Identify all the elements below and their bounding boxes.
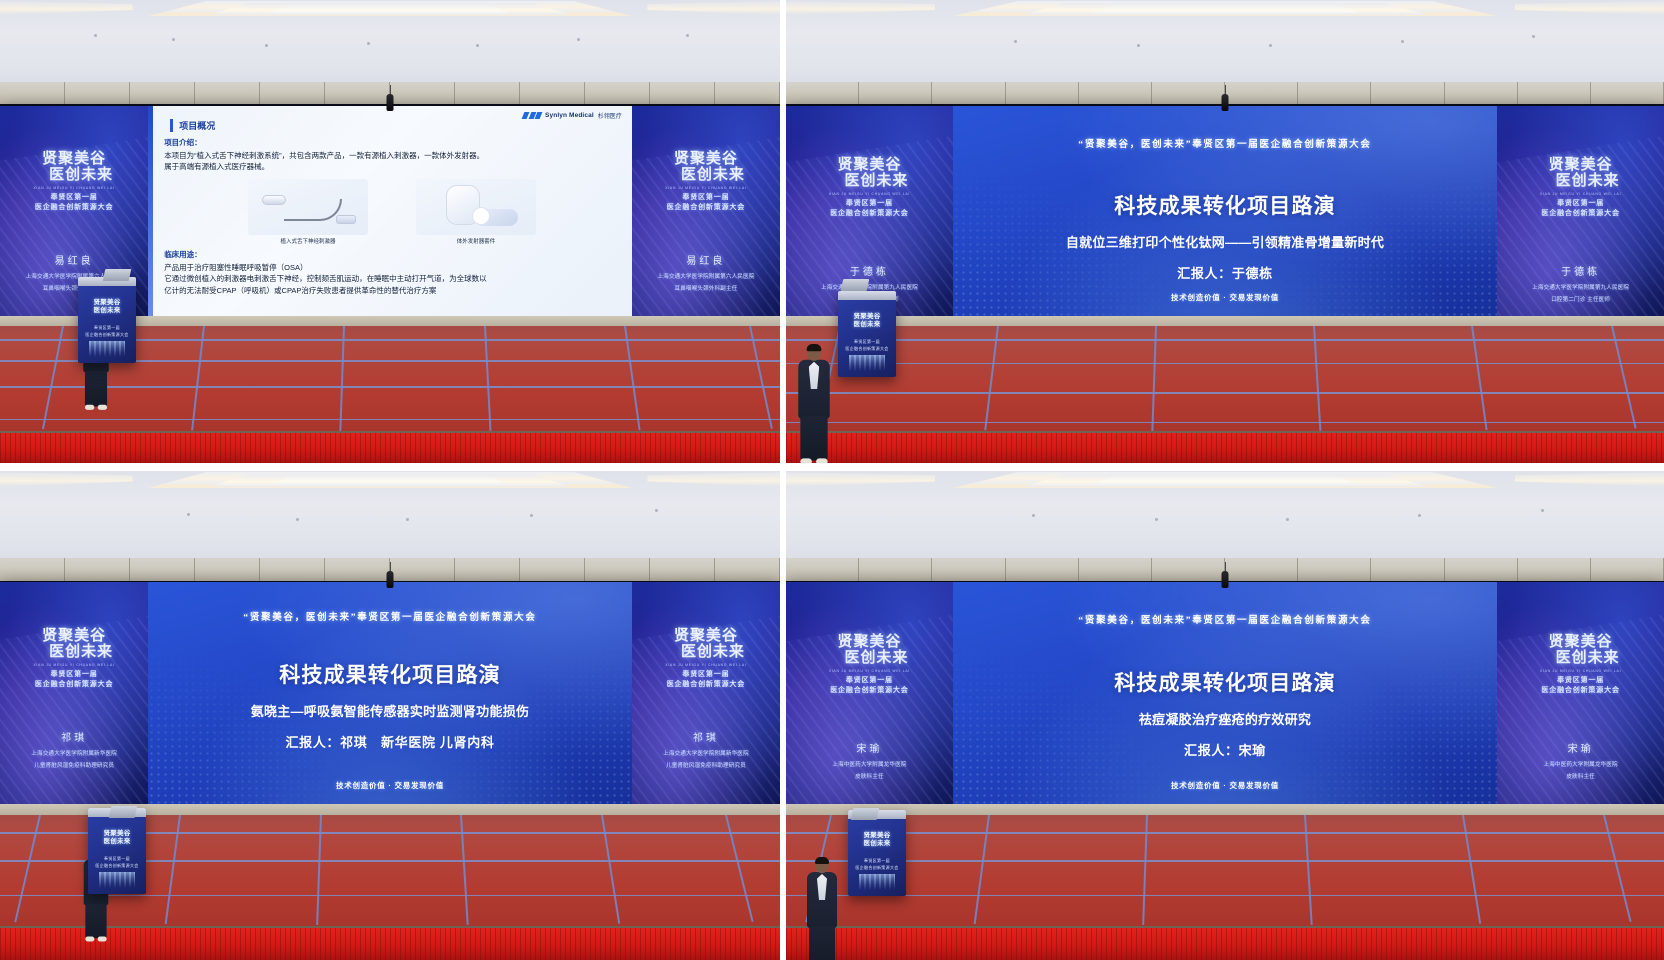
ceiling <box>0 471 780 571</box>
podium-subtitle: 奉贤区第一届 医企融合创新策源大会 <box>88 856 146 870</box>
screen-session-title: 科技成果转化项目路演 <box>279 659 501 689</box>
led-wall: 贤聚美谷 医创未来 XIAN JU MEIGU YI CHUANG WEI LA… <box>786 582 1664 804</box>
podium-logo: 贤聚美谷 医创未来 <box>78 299 136 315</box>
hanging-microphone-icon <box>387 94 394 111</box>
slide-section-2-line-1: 产品用于治疗阻塞性睡眠呼吸暂停（OSA） <box>164 262 620 274</box>
ceiling-cove-inner <box>269 476 511 485</box>
podium-skyline-graphic <box>89 341 125 357</box>
led-center-screen: “贤聚美谷，医创未来”奉贤区第一届医企融合创新策源大会 科技成果转化项目路演 祛… <box>953 582 1497 804</box>
figure-transmitter: 体外发射器套件 <box>416 179 536 245</box>
stage-skirt <box>786 431 1664 463</box>
banner-speaker-name: 易红良 <box>55 252 94 267</box>
banner-speaker-affiliation: 上海交通大学医学院附属第六人民医院 耳鼻咽喉头颈外科副主任 <box>657 272 754 295</box>
podium-subtitle: 奉贤区第一届 医企融合创新策源大会 <box>848 858 906 872</box>
panel-top-right: 贤聚美谷 医创未来 XIAN JU MEIGU YI CHUANG WEI LA… <box>786 0 1664 463</box>
banner-pinyin: XIAN JU MEIGU YI CHUANG WEI LAI <box>829 192 910 196</box>
screen-session-title: 科技成果转化项目路演 <box>1114 190 1336 220</box>
banner-speaker-affiliation: 上海中医药大学附属龙华医院 皮肤科主任 <box>832 760 906 783</box>
stage-floor <box>786 316 1664 463</box>
photo-grid: 贤聚美谷 医创未来 XIAN JU MEIGU YI CHUANG WEI LA… <box>0 0 1664 960</box>
podium: 贤聚美谷 医创未来 奉贤区第一届 医企融合创新策源大会 <box>848 810 906 896</box>
banner-subtitle: 奉贤区第一届 医企融合创新策源大会 <box>1541 199 1619 220</box>
stage-skirt <box>0 926 780 960</box>
banner-speaker-name: 祁琪 <box>693 729 719 744</box>
screen-tagline: 技术创造价值 · 交易发现价值 <box>953 780 1497 791</box>
hanging-microphone-icon <box>1222 571 1229 588</box>
banner-pinyin: XIAN JU MEIGU YI CHUANG WEI LAI <box>1540 192 1621 196</box>
banner-title: 贤聚美谷 医创未来 <box>1542 158 1620 190</box>
banner-pinyin: XIAN JU MEIGU YI CHUANG WEI LAI <box>665 663 746 667</box>
screen-headline: “贤聚美谷，医创未来”奉贤区第一届医企融合创新策源大会 <box>243 609 536 623</box>
ceiling-cove-left <box>786 472 935 487</box>
figure-transmitter-image <box>416 179 536 235</box>
figure-implant-image <box>248 179 368 235</box>
figure-transmitter-caption: 体外发射器套件 <box>416 237 536 245</box>
brand-name-en: Synlyn Medical <box>545 112 594 119</box>
banner-subtitle: 奉贤区第一届 医企融合创新策源大会 <box>35 193 113 214</box>
banner-speaker-affiliation: 上海交通大学医学院附属新华医院 儿童肾脏风湿免疫科助理研究员 <box>663 749 749 772</box>
slide-section-2-line-3: 亿计的无法耐受CPAP（呼吸机）或CPAP治疗失败患者提供革命性的替代治疗方案 <box>164 285 620 297</box>
screen-presenter: 汇报人：宋瑜 <box>1184 740 1266 759</box>
led-wall: 贤聚美谷 医创未来 XIAN JU MEIGU YI CHUANG WEI LA… <box>786 106 1664 316</box>
podium-skyline-graphic <box>99 872 135 888</box>
slide-section-1-line-2: 属于高端有源植入式医疗器械。 <box>164 161 620 173</box>
banner-pinyin: XIAN JU MEIGU YI CHUANG WEI LAI <box>33 663 114 667</box>
banner-speaker-name: 易红良 <box>686 252 725 267</box>
ceiling-cove-inner <box>1089 5 1361 14</box>
podium-laptop <box>103 269 132 281</box>
banner-title: 贤聚美谷 医创未来 <box>1542 635 1620 667</box>
banner-title: 贤聚美谷 医创未来 <box>830 635 908 667</box>
screen-presenter: 汇报人：于德栋 <box>1177 263 1273 282</box>
presentation-slide: Synlyn Medical 杉翎医疗 项目概况 项目介绍： 本项目为“植入式舌… <box>148 106 632 316</box>
podium-subtitle: 奉贤区第一届 医企融合创新策源大会 <box>838 339 896 353</box>
podium-subtitle: 奉贤区第一届 医企融合创新策源大会 <box>78 325 136 339</box>
led-banner-right: 贤聚美谷 医创未来 XIAN JU MEIGU YI CHUANG WEI LA… <box>1497 582 1664 804</box>
banner-speaker-affiliation: 上海中医药大学附属龙华医院 皮肤科主任 <box>1544 760 1618 783</box>
podium-laptop <box>109 806 138 818</box>
banner-pinyin: XIAN JU MEIGU YI CHUANG WEI LAI <box>829 669 910 673</box>
ceiling <box>786 0 1664 95</box>
banner-title: 贤聚美谷 医创未来 <box>35 629 113 661</box>
ceiling-cove-inner <box>1089 476 1361 485</box>
banner-speaker-name: 祁琪 <box>61 729 87 744</box>
led-banner-left: 贤聚美谷 医创未来 XIAN JU MEIGU YI CHUANG WEI LA… <box>0 582 148 804</box>
banner-title: 贤聚美谷 医创未来 <box>667 152 745 184</box>
screen-session-title: 科技成果转化项目路演 <box>1114 667 1336 697</box>
podium: 贤聚美谷 医创未来 奉贤区第一届 医企融合创新策源大会 <box>838 291 896 377</box>
banner-title: 贤聚美谷 医创未来 <box>35 152 113 184</box>
banner-subtitle: 奉贤区第一届 医企融合创新策源大会 <box>830 199 908 220</box>
banner-speaker-affiliation: 上海交通大学医学院附属新华医院 儿童肾脏风湿免疫科助理研究员 <box>31 749 117 772</box>
banner-subtitle: 奉贤区第一届 医企融合创新策源大会 <box>830 676 908 697</box>
panel-top-left: 贤聚美谷 医创未来 XIAN JU MEIGU YI CHUANG WEI LA… <box>0 0 780 463</box>
synlyn-chevron-icon <box>523 112 541 119</box>
podium-skyline-graphic <box>859 874 895 890</box>
podium-logo: 贤聚美谷 医创未来 <box>88 830 146 846</box>
banner-subtitle: 奉贤区第一届 医企融合创新策源大会 <box>667 193 745 214</box>
led-wall: 贤聚美谷 医创未来 XIAN JU MEIGU YI CHUANG WEI LA… <box>0 582 780 804</box>
banner-subtitle: 奉贤区第一届 医企融合创新策源大会 <box>35 670 113 691</box>
panel-bottom-left: 贤聚美谷 医创未来 XIAN JU MEIGU YI CHUANG WEI LA… <box>0 471 780 960</box>
slide-section-2-label: 临床用途： <box>164 249 620 260</box>
slide-section-1-label: 项目介绍： <box>164 137 620 148</box>
podium-skyline-graphic <box>849 355 885 371</box>
led-banner-left: 贤聚美谷 医创未来 XIAN JU MEIGU YI CHUANG WEI LA… <box>786 582 953 804</box>
banner-title: 贤聚美谷 医创未来 <box>830 158 908 190</box>
stage-floor <box>786 804 1664 960</box>
led-center-screen: “贤聚美谷，医创未来”奉贤区第一届医企融合创新策源大会 科技成果转化项目路演 氨… <box>148 582 632 804</box>
screen-tagline: 技术创造价值 · 交易发现价值 <box>953 292 1497 303</box>
screen-headline: “贤聚美谷，医创未来”奉贤区第一届医企融合创新策源大会 <box>1078 136 1371 150</box>
brand-name-cn: 杉翎医疗 <box>598 111 622 120</box>
banner-speaker-affiliation: 上海交通大学医学院附属第九人民医院 口腔第二门诊 主任医师 <box>1532 283 1629 306</box>
screen-project-subtitle: 氨晓主—呼吸氨智能传感器实时监测肾功能损伤 <box>251 701 529 720</box>
podium-logo: 贤聚美谷 医创未来 <box>838 313 896 329</box>
slide-section-2-line-2: 它通过微创植入的刺激器电刺激舌下神经，控制颏舌肌运动，在睡眠中主动打开气道，为全… <box>164 273 620 285</box>
figure-implant-caption: 植入式舌下神经刺激器 <box>248 237 368 245</box>
stage-skirt <box>786 926 1664 960</box>
led-banner-right: 贤聚美谷 医创未来 XIAN JU MEIGU YI CHUANG WEI LA… <box>632 106 780 316</box>
screen-headline: “贤聚美谷，医创未来”奉贤区第一届医企融合创新策源大会 <box>1078 612 1371 626</box>
ceiling-cove-right <box>647 472 780 487</box>
podium: 贤聚美谷 医创未来 奉贤区第一届 医企融合创新策源大会 <box>78 277 136 363</box>
banner-pinyin: XIAN JU MEIGU YI CHUANG WEI LAI <box>1540 669 1621 673</box>
podium: 贤聚美谷 医创未来 奉贤区第一届 医企融合创新策源大会 <box>88 808 146 894</box>
banner-title: 贤聚美谷 医创未来 <box>667 629 745 661</box>
stage-skirt <box>0 431 780 463</box>
banner-subtitle: 奉贤区第一届 医企融合创新策源大会 <box>1541 676 1619 697</box>
figure-implant: 植入式舌下神经刺激器 <box>248 179 368 245</box>
screen-project-subtitle: 自就位三维打印个性化钛网——引领精准骨增量新时代 <box>1066 232 1384 251</box>
screen-presenter: 汇报人：祁琪 新华医院 儿肾内科 <box>285 732 494 751</box>
ceiling-cove-right <box>1515 1 1664 15</box>
screen-tagline: 技术创造价值 · 交易发现价值 <box>148 780 632 791</box>
ceiling-cove-left <box>786 1 935 15</box>
ceiling-cove-left <box>0 472 133 487</box>
banner-speaker-name: 宋瑜 <box>1568 740 1594 755</box>
slide-heading: 项目概况 <box>170 119 620 132</box>
podium-laptop <box>841 279 870 291</box>
slide-brand-logo: Synlyn Medical 杉翎医疗 <box>523 111 622 120</box>
led-center-screen: “贤聚美谷，医创未来”奉贤区第一届医企融合创新策源大会 科技成果转化项目路演 自… <box>953 106 1497 316</box>
podium-logo: 贤聚美谷 医创未来 <box>848 832 906 848</box>
banner-pinyin: XIAN JU MEIGU YI CHUANG WEI LAI <box>33 186 114 190</box>
ceiling-cove-left <box>0 1 133 15</box>
hanging-microphone-icon <box>387 571 394 588</box>
banner-speaker-name: 宋瑜 <box>856 740 882 755</box>
hanging-microphone-icon <box>1222 94 1229 111</box>
banner-pinyin: XIAN JU MEIGU YI CHUANG WEI LAI <box>665 186 746 190</box>
screen-project-subtitle: 祛痘凝胶治疗痤疮的疗效研究 <box>1139 709 1311 728</box>
ceiling-cove-right <box>647 1 780 15</box>
slide-figures: 植入式舌下神经刺激器 体外发射器套件 <box>164 179 620 245</box>
ceiling-cove-right <box>1515 472 1664 487</box>
led-banner-right: 贤聚美谷 医创未来 XIAN JU MEIGU YI CHUANG WEI LA… <box>632 582 780 804</box>
ceiling <box>0 0 780 95</box>
led-banner-left: 贤聚美谷 医创未来 XIAN JU MEIGU YI CHUANG WEI LA… <box>786 106 953 316</box>
banner-speaker-name: 于德栋 <box>850 263 889 278</box>
led-banner-right: 贤聚美谷 医创未来 XIAN JU MEIGU YI CHUANG WEI LA… <box>1497 106 1664 316</box>
slide-section-1-line-1: 本项目为“植入式舌下神经刺激系统”，共包含两款产品，一款有源植入刺激器，一款体外… <box>164 150 620 162</box>
banner-speaker-name: 于德栋 <box>1561 263 1600 278</box>
banner-subtitle: 奉贤区第一届 医企融合创新策源大会 <box>667 670 745 691</box>
panel-bottom-right: 贤聚美谷 医创未来 XIAN JU MEIGU YI CHUANG WEI LA… <box>786 471 1664 960</box>
podium-laptop <box>851 808 880 820</box>
ceiling-cove-inner <box>269 5 511 14</box>
ceiling <box>786 471 1664 571</box>
